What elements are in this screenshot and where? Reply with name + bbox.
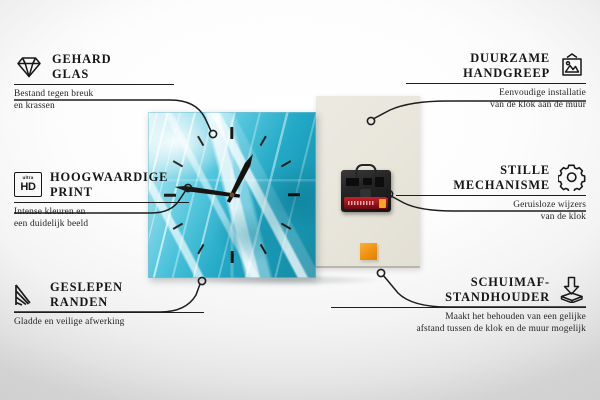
movement-slot-c bbox=[375, 177, 384, 187]
feature-geslepen-randen: GESLEPEN RANDEN Gladde en veilige afwerk… bbox=[14, 280, 204, 329]
movement-shaft bbox=[360, 189, 371, 197]
battery-label bbox=[348, 201, 374, 205]
infographic-canvas: GEHARD GLAS Bestand tegen breuk en krass… bbox=[0, 0, 600, 400]
feature-schuimaf-standhouder: SCHUIMAF- STANDHOUDER Maakt het behouden… bbox=[331, 275, 586, 335]
feature-stille-mechanisme: STILLE MECHANISME Geruisloze wijzers van… bbox=[396, 163, 586, 223]
feature-description: Bestand tegen breuk en krassen bbox=[14, 89, 174, 112]
feature-duurzame-handgreep: DUURZAME HANDGREEP Eenvoudige installati… bbox=[406, 51, 586, 111]
feature-description: Gladde en veilige afwerking bbox=[14, 317, 204, 328]
feature-hoogwaardige-print: ultra HD HOOGWAARDIGE PRINT Intense kleu… bbox=[14, 170, 189, 230]
ultra-hd-badge-main-text: HD bbox=[20, 182, 35, 193]
feature-title: SCHUIMAF- STANDHOUDER bbox=[445, 275, 550, 304]
feature-title: GEHARD GLAS bbox=[52, 52, 112, 81]
feature-description: Geruisloze wijzers van de klok bbox=[396, 200, 586, 223]
feature-divider bbox=[396, 195, 586, 196]
movement-slot-a bbox=[346, 178, 359, 186]
movement-slot-b bbox=[363, 178, 372, 185]
feature-title: STILLE MECHANISME bbox=[453, 163, 550, 192]
feature-title: DUURZAME HANDGREEP bbox=[463, 51, 550, 80]
feature-description: Maakt het behouden van een gelijke afsta… bbox=[331, 312, 586, 335]
feature-divider bbox=[14, 84, 174, 85]
feature-description: Eenvoudige installatie van de klok aan d… bbox=[406, 88, 586, 111]
feature-divider bbox=[14, 202, 189, 203]
feature-divider bbox=[331, 307, 586, 308]
picture-frame-icon bbox=[558, 53, 586, 79]
diagonal-lines-icon bbox=[14, 283, 42, 307]
back-panel-edge bbox=[316, 266, 420, 268]
feature-description: Intense kleuren en een duidelijk beeld bbox=[14, 207, 189, 230]
gear-icon bbox=[558, 164, 586, 191]
feature-title: HOOGWAARDIGE PRINT bbox=[50, 170, 168, 199]
aa-battery bbox=[344, 197, 388, 209]
feature-title: GESLEPEN RANDEN bbox=[50, 280, 123, 309]
hanger-hook-icon bbox=[356, 164, 377, 177]
arrow-down-onto-block-icon bbox=[558, 276, 586, 303]
ultra-hd-badge-icon: ultra HD bbox=[14, 172, 42, 197]
feature-gehard-glas: GEHARD GLAS Bestand tegen breuk en krass… bbox=[14, 52, 174, 112]
feature-divider bbox=[14, 312, 204, 313]
quartz-clock-movement bbox=[341, 170, 391, 212]
diamond-icon bbox=[14, 55, 44, 79]
foam-spacer-pad bbox=[360, 243, 377, 260]
feature-divider bbox=[406, 83, 586, 84]
battery-positive-terminal bbox=[379, 199, 386, 208]
